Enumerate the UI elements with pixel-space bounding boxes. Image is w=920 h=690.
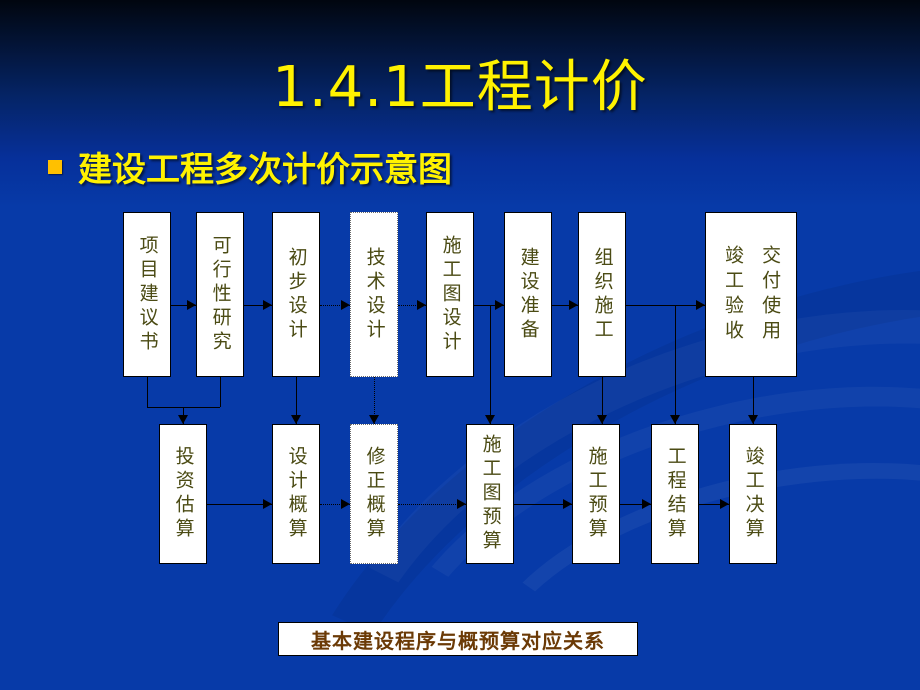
arrowhead-row1-3 [417,300,426,310]
arrowhead-row2-0 [263,499,272,509]
flow-box-label-col2: 交付使用 [758,245,781,345]
arrowhead-row2-4 [642,499,651,509]
arrowhead-row1-1 [263,300,272,310]
flow-box-label: 施工预算 [584,446,607,542]
construction-pricing-flowchart: 项目建议书可行性研究初步设计技术设计施工图设计建设准备组织施工投资估算设计概算修… [0,0,920,690]
flow-box-r1c4: 技术设计 [350,212,398,377]
flow-box-label: 施工图预算 [478,434,501,554]
arrowhead-row2-1 [341,499,350,509]
flow-box-r1c5: 施工图设计 [426,212,474,377]
flow-box-r2c6: 工程结算 [651,424,699,564]
connector-drop-construction-drawing [490,305,491,425]
flow-box-label: 工程结算 [663,446,686,542]
arrowhead-drop-final [748,415,758,424]
flow-box-label: 施工图设计 [438,235,461,355]
connector-row2-2 [398,504,466,505]
connector-merge-right [220,377,221,407]
flow-box-r2c5: 施工预算 [572,424,620,564]
connector-drop-settlement [675,305,676,425]
flow-box-label: 设计概算 [284,446,307,542]
flow-box-label: 建设准备 [516,247,539,343]
connector-drop-tech-arrow [369,415,379,424]
flow-box-r2c7: 竣工决算 [729,424,777,564]
flow-box-r1c6: 建设准备 [504,212,552,377]
arrowhead-row2-3 [563,499,572,509]
flow-box-label: 可行性研究 [208,235,231,355]
flow-box-label-col1: 竣工验收 [721,245,744,345]
flow-box-r2c2: 设计概算 [272,424,320,564]
arrowhead-row2-2 [457,499,466,509]
arrowhead-row1-6 [696,300,705,310]
flow-box-r1c1: 项目建议书 [123,212,171,377]
flow-box-r2c4: 施工图预算 [466,424,514,564]
flow-box-label: 项目建议书 [135,235,158,355]
arrowhead-down-invest [178,415,188,424]
arrowhead-row1-2 [341,300,350,310]
flow-box-r1c7: 组织施工 [578,212,626,377]
flow-box-r1c2: 可行性研究 [196,212,244,377]
flow-box-r2c3: 修正概算 [350,424,398,564]
arrowhead-row1-5 [569,300,578,310]
flow-box-label: 修正概算 [362,446,385,542]
diagram-caption: 基本建设程序与概预算对应关系 [278,622,638,656]
arrowhead-row1-0 [187,300,196,310]
arrowhead-row2-5 [720,499,729,509]
flow-box-r1c3: 初步设计 [272,212,320,377]
arrowhead-drop-construction-drawing [485,415,495,424]
connector-merge-left [147,377,148,407]
slide-canvas: 1.4.1工程计价 建设工程多次计价示意图 项目建议书可行性研究初步设计技术设计… [0,0,920,690]
flow-box-label: 初步设计 [284,247,307,343]
connector-row1-6 [626,305,705,306]
flow-box-r1c8: 竣工验收交付使用 [705,212,797,377]
flow-box-label: 技术设计 [362,247,385,343]
arrowhead-row1-4 [495,300,504,310]
flow-box-label: 组织施工 [590,247,613,343]
connector-drop-design-arrow [291,415,301,424]
arrowhead-drop-org [597,415,607,424]
flow-box-label: 竣工决算 [741,446,764,542]
flow-box-label: 投资估算 [171,446,194,542]
flow-box-r2c1: 投资估算 [159,424,207,564]
arrowhead-drop-settlement [670,415,680,424]
